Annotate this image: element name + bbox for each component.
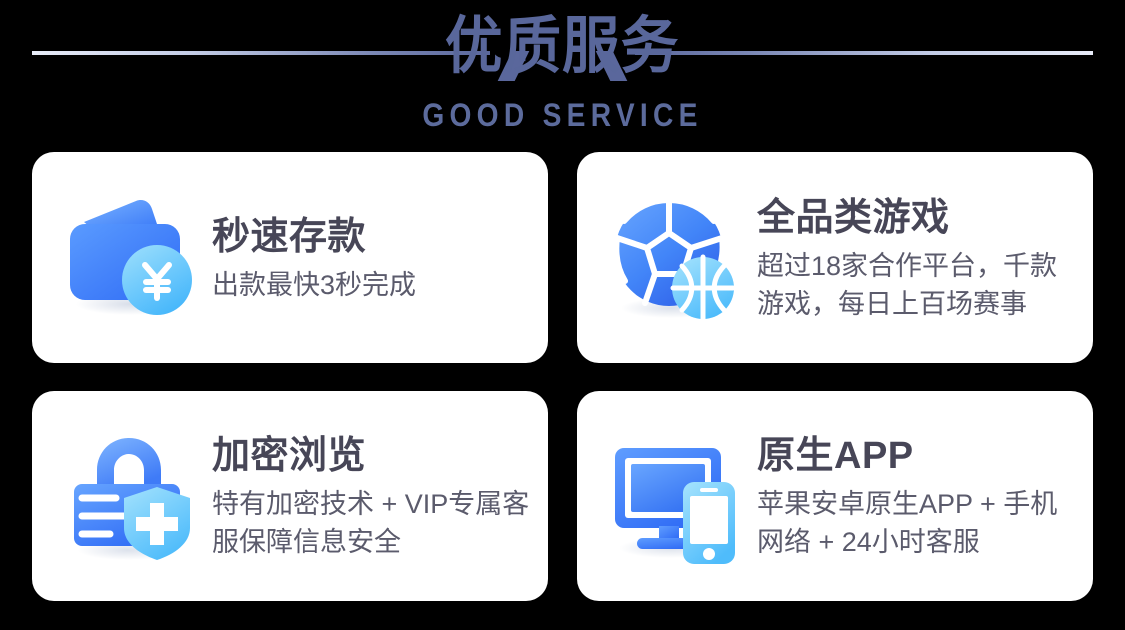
feature-card-title: 加密浏览 (212, 433, 530, 479)
lock-shield-icon (62, 426, 202, 566)
page-subtitle: GOOD SERVICE (68, 96, 1058, 134)
feature-card-games[interactable]: 全品类游戏 超过18家合作平台，千款游戏，每日上百场赛事 (577, 152, 1093, 363)
feature-card-title: 全品类游戏 (757, 195, 1075, 241)
page-title-wrap: 优质服务 (0, 8, 1125, 84)
promo-banner: 优质服务 GOOD SERVICE (0, 0, 1125, 630)
feature-card-deposit[interactable]: 秒速存款 出款最快3秒完成 (32, 152, 548, 363)
feature-card-title: 秒速存款 (212, 214, 530, 260)
feature-card-app[interactable]: 原生APP 苹果安卓原生APP + 手机网络 + 24小时客服 (577, 391, 1093, 601)
soccer-basketball-icon (607, 188, 747, 328)
feature-card-text: 原生APP 苹果安卓原生APP + 手机网络 + 24小时客服 (757, 431, 1075, 561)
feature-card-text: 秒速存款 出款最快3秒完成 (212, 212, 530, 304)
feature-card-desc: 超过18家合作平台，千款游戏，每日上百场赛事 (757, 247, 1075, 323)
feature-card-desc: 苹果安卓原生APP + 手机网络 + 24小时客服 (757, 485, 1075, 561)
feature-card-grid: 秒速存款 出款最快3秒完成 (32, 152, 1093, 601)
banner-header: 优质服务 GOOD SERVICE (0, 0, 1125, 145)
monitor-phone-icon (607, 426, 747, 566)
page-title: 优质服务 (445, 8, 679, 84)
feature-card-desc: 出款最快3秒完成 (212, 266, 530, 304)
feature-card-text: 全品类游戏 超过18家合作平台，千款游戏，每日上百场赛事 (757, 193, 1075, 323)
feature-card-title: 原生APP (757, 433, 1075, 479)
feature-card-text: 加密浏览 特有加密技术 + VIP专属客服保障信息安全 (212, 431, 530, 561)
feature-card-encryption[interactable]: 加密浏览 特有加密技术 + VIP专属客服保障信息安全 (32, 391, 548, 601)
feature-card-desc: 特有加密技术 + VIP专属客服保障信息安全 (212, 485, 530, 561)
wallet-yen-icon (62, 188, 202, 328)
